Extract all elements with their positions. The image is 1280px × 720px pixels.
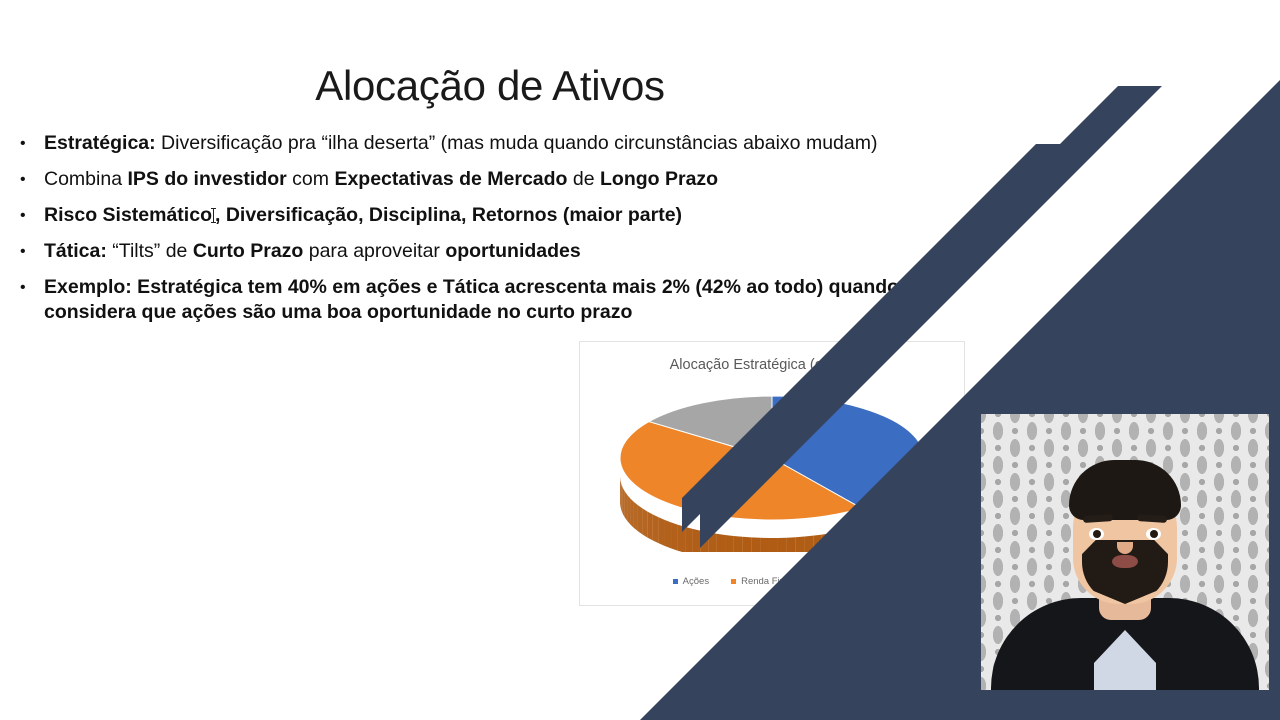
presenter-eye-right <box>1146 528 1161 540</box>
pie-chart-panel: Alocação Estratégica (exemplo) AçõesRend… <box>579 341 965 606</box>
pie-slice-side <box>708 532 716 552</box>
pie-chart-graphic <box>617 392 927 552</box>
bullet-marker-icon: • <box>14 203 44 228</box>
bullet-item-estrategica: •Estratégica: Diversificação pra “ilha d… <box>14 131 960 156</box>
bullet-item-tatica: •Tática: “Tilts” de Curto Prazo para apr… <box>14 239 960 264</box>
pie-slice-side <box>830 532 838 552</box>
brand-logo: PRO EDUCACIONAL <box>1274 120 1280 420</box>
pie-slice-side <box>751 537 760 552</box>
bullet-text: Exemplo: Estratégica tem 40% em ações e … <box>44 275 960 325</box>
bullet-marker-icon: • <box>14 167 44 192</box>
pie-slice-side <box>725 535 734 552</box>
presenter-webcam-video[interactable] <box>981 414 1269 690</box>
legend-label: Alternativos <box>822 576 872 587</box>
legend-item-renda-fixa[interactable]: Renda Fixa <box>731 576 790 587</box>
pie-slice-side <box>805 536 814 552</box>
legend-swatch-icon <box>812 579 817 584</box>
page-title: Alocação de Ativos <box>0 62 980 110</box>
bullet-marker-icon: • <box>14 131 44 156</box>
pie-slice-side <box>760 538 769 552</box>
bullet-list: •Estratégica: Diversificação pra “ilha d… <box>14 131 960 325</box>
bullet-item-risco-sistematico: •Risco Sistemático, Diversificação, Disc… <box>14 203 960 228</box>
pie-slice-side <box>822 533 830 552</box>
pie-slice-side <box>787 537 796 552</box>
legend-label: Ações <box>683 576 709 587</box>
chart-title: Alocação Estratégica (exemplo) <box>580 357 964 373</box>
bullet-item-exemplo: •Exemplo: Estratégica tem 40% em ações e… <box>14 275 960 325</box>
presenter-mouth <box>1112 555 1138 568</box>
chart-legend: AçõesRenda FixaAlternativos <box>580 576 964 587</box>
text-cursor-icon <box>213 208 214 223</box>
bullet-marker-icon: • <box>14 275 44 300</box>
pie-slice-side <box>796 537 805 552</box>
legend-item-ações[interactable]: Ações <box>673 576 709 587</box>
legend-swatch-icon <box>673 579 678 584</box>
pie-slice-side <box>734 536 743 552</box>
bullet-item-combina-ips: •Combina IPS do investidor com Expectati… <box>14 167 960 192</box>
presentation-slide: Alocação de Ativos •Estratégica: Diversi… <box>0 0 1280 720</box>
legend-swatch-icon <box>731 579 736 584</box>
legend-item-alternativos[interactable]: Alternativos <box>812 576 872 587</box>
pie-slice-side <box>778 538 787 552</box>
presenter-eye-left <box>1089 528 1104 540</box>
legend-label: Renda Fixa <box>741 576 790 587</box>
pie-slice-side <box>742 537 751 552</box>
pie-slice-side <box>769 538 778 552</box>
bullet-text: Estratégica: Diversificação pra “ilha de… <box>44 131 960 156</box>
pie-slice-side <box>813 535 822 552</box>
bullet-text: Tática: “Tilts” de Curto Prazo para apro… <box>44 239 960 264</box>
pie-3d-top <box>617 392 927 534</box>
bullet-text: Risco Sistemático, Diversificação, Disci… <box>44 203 960 228</box>
pie-slice-side <box>717 534 725 552</box>
bullet-marker-icon: • <box>14 239 44 264</box>
bullet-text: Combina IPS do investidor com Expectativ… <box>44 167 960 192</box>
